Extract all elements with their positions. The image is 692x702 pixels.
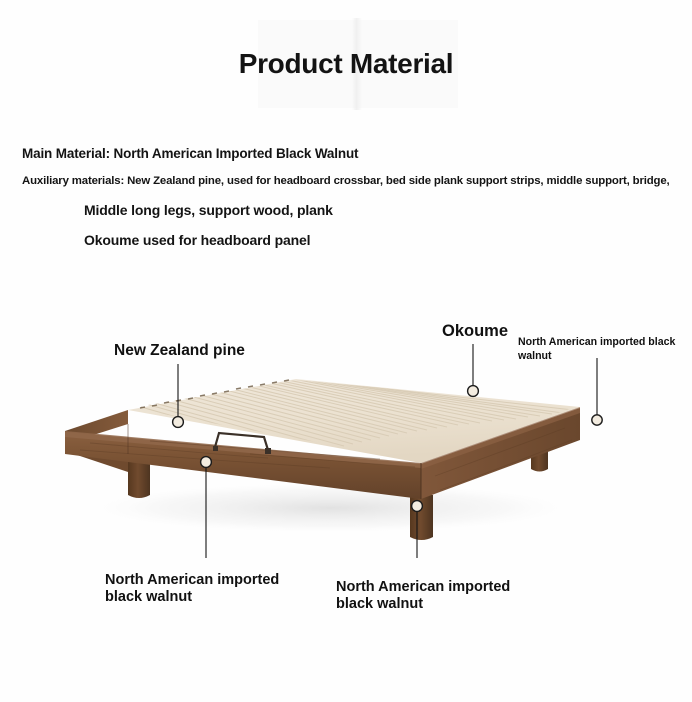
callout-label-walnut-bottom-left: North American imported black walnut: [105, 572, 320, 606]
marker-walnut-bottom-left: [201, 457, 212, 468]
product-illustration: [0, 258, 692, 558]
marker-pine: [173, 417, 184, 428]
spec-line-okoume-panel: Okoume used for headboard panel: [84, 232, 310, 248]
product-material-page: Product Material Main Material: North Am…: [0, 0, 692, 702]
spec-auxiliary-materials: Auxiliary materials: New Zealand pine, u…: [22, 175, 670, 187]
bracket-foot-right: [265, 448, 271, 454]
callout-label-okoume: Okoume: [442, 322, 508, 341]
callout-label-walnut-right: North American imported black walnut: [518, 336, 690, 363]
spec-main-material: Main Material: North American Imported B…: [22, 146, 358, 161]
marker-walnut-bottom-center: [412, 501, 423, 512]
callout-label-new-zealand-pine: New Zealand pine: [114, 342, 245, 360]
page-title: Product Material: [0, 48, 692, 80]
floor-shadow: [80, 482, 580, 534]
callout-label-walnut-bottom-center: North American imported black walnut: [336, 579, 536, 613]
marker-okoume: [468, 386, 479, 397]
spec-line-middle-legs: Middle long legs, support wood, plank: [84, 202, 333, 218]
bracket-foot-left: [213, 446, 218, 451]
marker-walnut-right: [592, 415, 602, 425]
